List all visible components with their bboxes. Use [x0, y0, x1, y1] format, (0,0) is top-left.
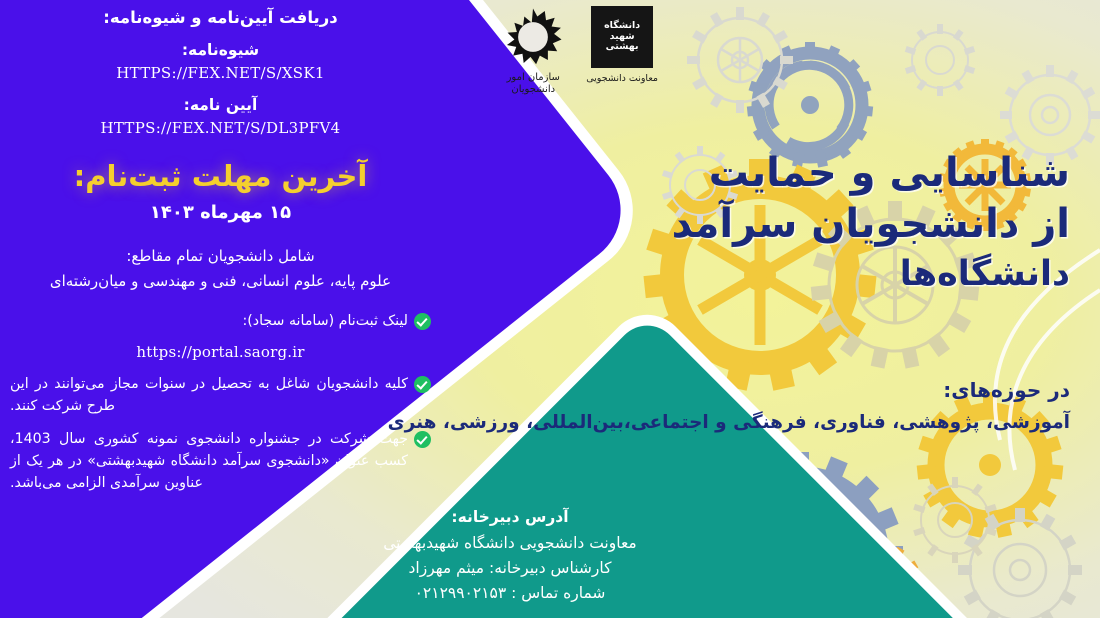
- bullet-text: جهت شرکت در جشنواره دانشجوی نمونه کشوری …: [10, 428, 408, 494]
- poster-canvas: دریافت آیین‌نامه و شیوه‌نامه: شیوه‌نامه:…: [0, 0, 1100, 618]
- gear-outline-small-upperleft: [905, 24, 975, 96]
- secretariat-line-1: معاونت دانشجویی دانشگاه شهیدبهشتی: [300, 531, 720, 556]
- shivename-label: شیوه‌نامه:: [10, 41, 431, 59]
- sbu-emblem-text: دانشگاه شهید بهشتی: [593, 21, 651, 52]
- list-item: کلیه دانشجویان شاغل به تحصیل در سنوات مج…: [10, 373, 431, 417]
- registration-link[interactable]: https://portal.saorg.ir: [10, 343, 431, 361]
- sbu-caption: معاونت دانشجویی: [586, 73, 658, 84]
- logo-student-affairs-organization: سازمان امور دانشجویان: [502, 6, 564, 95]
- list-item: جهت شرکت در جشنواره دانشجوی نمونه کشوری …: [10, 428, 431, 494]
- scope-line-1: شامل دانشجویان تمام مقاطع:: [10, 245, 431, 268]
- scope-line-2: علوم پایه، علوم انسانی، فنی و مهندسی و م…: [10, 270, 431, 293]
- secretariat-heading: آدرس دبیرخانه:: [300, 505, 720, 530]
- bullet-list: لینک ثبت‌نام (سامانه سجاد): https://port…: [10, 310, 431, 494]
- sao-caption-line-1: سازمان امور: [507, 72, 560, 84]
- headline-line-2: از دانشجویان سرآمد: [430, 199, 1070, 250]
- ayinname-url[interactable]: HTTPS://FEX.NET/S/DL3PFV4: [10, 119, 431, 137]
- registration-info-panel: دریافت آیین‌نامه و شیوه‌نامه: شیوه‌نامه:…: [0, 0, 445, 580]
- page-title: شناسایی و حمایت از دانشجویان سرآمد دانشگ…: [430, 148, 1070, 297]
- sbu-emblem-icon: دانشگاه شهید بهشتی: [591, 6, 653, 68]
- fields-heading: در حوزه‌های:: [370, 378, 1070, 402]
- sao-caption: سازمان امور دانشجویان: [507, 72, 560, 95]
- logo-row: دانشگاه شهید بهشتی معاونت دانشجویی سازما…: [428, 6, 658, 112]
- secretariat-address-panel: آدرس دبیرخانه: معاونت دانشجویی دانشگاه ش…: [300, 505, 720, 618]
- shivename-url[interactable]: HTTPS://FEX.NET/S/XSK1: [10, 64, 431, 82]
- bullet-text: لینک ثبت‌نام (سامانه سجاد):: [10, 310, 408, 332]
- fields-section: در حوزه‌های: آموزشی، پژوهشی، فناوری، فره…: [370, 378, 1070, 436]
- check-circle-icon: [414, 313, 431, 330]
- ayinname-label: آیین نامه:: [10, 96, 431, 114]
- secretariat-phone: شماره تماس : ۰۲۱۲۹۹۰۲۱۵۳: [300, 581, 720, 606]
- download-heading: دریافت آیین‌نامه و شیوه‌نامه:: [10, 8, 431, 27]
- deadline-heading: آخرین مهلت ثبت‌نام:: [10, 159, 431, 193]
- fields-body: آموزشی، پژوهشی، فناوری، فرهنگی و اجتماعی…: [370, 410, 1070, 436]
- secretariat-line-2: کارشناس دبیرخانه: میثم مهرزاد: [300, 556, 720, 581]
- headline-line-3: دانشگاه‌ها: [430, 252, 1070, 297]
- logo-shahid-beheshti-university: دانشگاه شهید بهشتی معاونت دانشجویی: [586, 6, 658, 84]
- headline-line-1: شناسایی و حمایت: [430, 148, 1070, 199]
- sao-caption-line-2: دانشجویان: [507, 84, 560, 96]
- sao-starburst-icon: [502, 6, 564, 68]
- bullet-text: کلیه دانشجویان شاغل به تحصیل در سنوات مج…: [10, 373, 408, 417]
- list-item: لینک ثبت‌نام (سامانه سجاد):: [10, 310, 431, 332]
- deadline-date: ۱۵ مهرماه ۱۴۰۳: [10, 202, 431, 223]
